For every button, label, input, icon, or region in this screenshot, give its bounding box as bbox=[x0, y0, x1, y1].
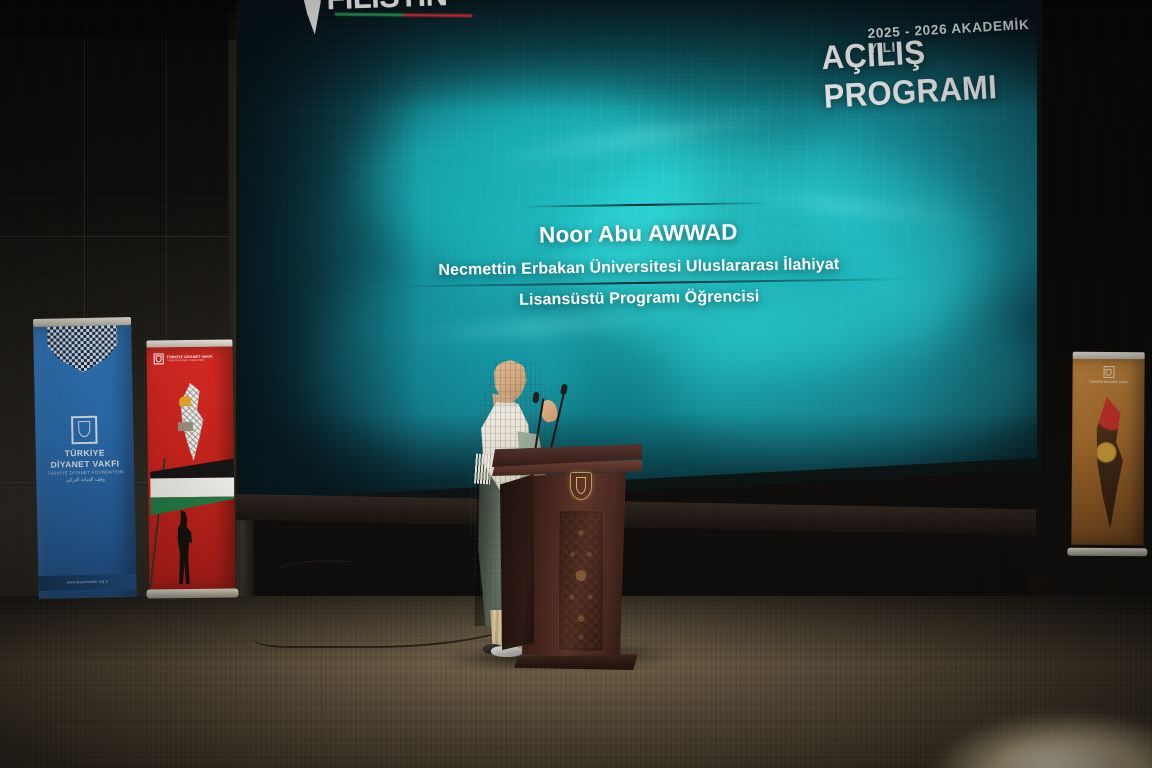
foreground-blurred-highlight bbox=[992, 740, 1112, 768]
event-logo: İlk Ders: FİLİSTİN bbox=[294, 0, 505, 41]
gold-banner-artwork bbox=[1085, 397, 1130, 529]
gold-tdv-emblem-icon bbox=[570, 472, 592, 500]
palestine-map-icon bbox=[296, 0, 327, 36]
podium-left-face bbox=[500, 474, 534, 650]
tdv-crest-icon bbox=[1103, 366, 1114, 378]
tdv-mark-small-icon bbox=[154, 353, 164, 364]
gold-banner-crest-text: TÜRKİYE DİYANET VAKFI bbox=[1073, 380, 1145, 385]
keffiyeh-fringe bbox=[474, 453, 492, 484]
headline-title: AÇILIŞ PROGRAMI bbox=[820, 27, 1036, 117]
dome-of-the-rock-icon bbox=[179, 396, 191, 406]
palestine-rollup-banner: TÜRKİYE DİYANET VAKFI TURKIYE DIYANET FO… bbox=[146, 339, 235, 598]
gold-banner-crest: TÜRKİYE DİYANET VAKFI bbox=[1073, 366, 1145, 385]
led-screen: İlk Ders: FİLİSTİN 2025 - 2026 AKADEMİK … bbox=[240, 0, 1037, 502]
gold-banner-body: TÜRKİYE DİYANET VAKFI bbox=[1071, 359, 1144, 545]
flag-white-band bbox=[150, 478, 234, 497]
speaker-card-rule-top bbox=[519, 202, 769, 207]
flag-green-band bbox=[150, 496, 234, 515]
screen-content: İlk Ders: FİLİSTİN 2025 - 2026 AKADEMİK … bbox=[240, 0, 1037, 502]
dome-base bbox=[178, 422, 193, 431]
blue-banner-logo: TÜRKİYE DİYANET VAKFI TURKIYE DIYANET FO… bbox=[35, 415, 134, 484]
carving-pattern bbox=[562, 514, 600, 648]
red-banner-header: TÜRKİYE DİYANET VAKFI TURKIYE DIYANET FO… bbox=[154, 353, 213, 365]
speaker-affiliation-line1: Necmettin Erbakan Üniversitesi Uluslarar… bbox=[240, 253, 1037, 283]
stage-photo-scene: İlk Ders: FİLİSTİN 2025 - 2026 AKADEMİK … bbox=[0, 0, 1152, 768]
child-silhouette-icon bbox=[171, 510, 198, 584]
speaker-affiliation-line2: Lisansüstü Programı Öğrencisi bbox=[241, 284, 1037, 314]
gold-art-rollup-banner: TÜRKİYE DİYANET VAKFI bbox=[1071, 352, 1144, 560]
blue-banner-subtitle: TURKIYE DIYANET FOUNDATION bbox=[36, 469, 134, 476]
blue-banner-arabic: وقف الديانة التركي bbox=[36, 476, 134, 484]
podium-carved-panel bbox=[558, 510, 604, 652]
red-banner-base bbox=[146, 588, 238, 598]
tdv-mark-icon bbox=[71, 416, 98, 445]
emblem-inner-mark bbox=[576, 477, 586, 494]
gold-banner-base bbox=[1067, 548, 1147, 557]
red-banner-body: TÜRKİYE DİYANET VAKFI TURKIYE DIYANET FO… bbox=[147, 346, 236, 590]
islamic-ornament-icon bbox=[47, 325, 118, 374]
turkiye-diyanet-vakfi-rollup-banner: TÜRKİYE DİYANET VAKFI TURKIYE DIYANET FO… bbox=[33, 317, 137, 609]
red-banner-header-sub: TURKIYE DIYANET FOUNDATION bbox=[167, 359, 213, 363]
blue-banner-url: www.diyanetvakfi.org.tr bbox=[38, 574, 136, 591]
blue-banner-body: TÜRKİYE DİYANET VAKFI TURKIYE DIYANET FO… bbox=[33, 325, 137, 599]
blue-banner-footer-strip: www.diyanetvakfi.org.tr bbox=[38, 574, 136, 591]
wooden-podium bbox=[492, 444, 642, 666]
podium-base bbox=[514, 654, 638, 670]
speaker-name: Noor Abu AWWAD bbox=[240, 215, 1037, 253]
audio-cable-loop bbox=[262, 560, 352, 592]
blue-banner-title2: DİYANET VAKFI bbox=[36, 458, 134, 471]
